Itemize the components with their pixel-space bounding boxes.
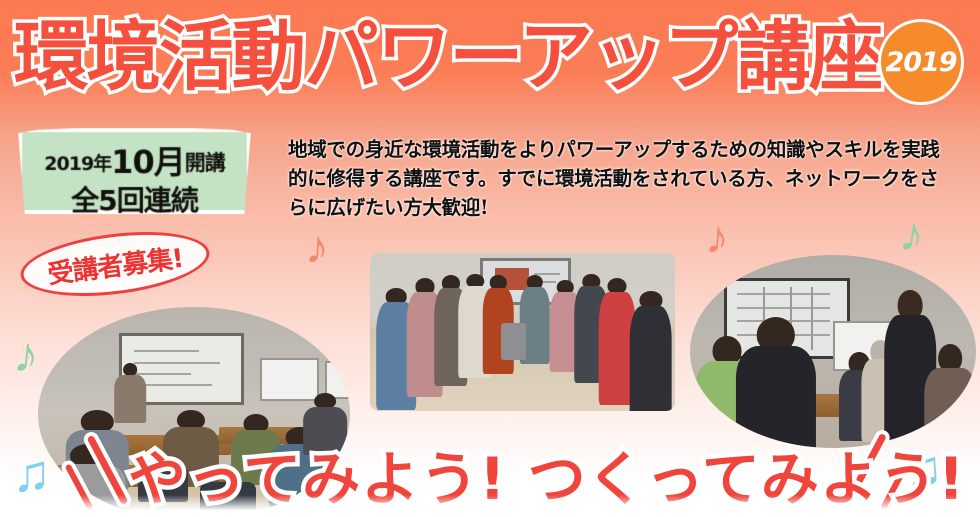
schedule-banner: 2019年10月開講 全5回連続 — [18, 128, 252, 214]
music-note-icon: ♪ — [304, 223, 330, 270]
music-note-icon: ♫ — [12, 448, 51, 500]
participant-figure — [629, 291, 672, 411]
music-note-icon: ♪ — [11, 329, 41, 381]
schedule-start: 開講 — [185, 151, 225, 175]
recruit-badge-label: 受講者募集! — [45, 237, 184, 290]
schedule-month: 10月 — [111, 143, 185, 181]
title-container: 環境活動パワーアップ講座 — [14, 6, 874, 108]
year-badge: 2019 — [878, 19, 964, 105]
schedule-sessions: 全5回連続 — [22, 187, 248, 215]
poster-canvas: 環境活動パワーアップ講座 2019 2019年10月開講 全5回連続 地域での身… — [0, 0, 980, 517]
photo-group-workshop — [370, 253, 675, 411]
slogan-container: やってみよう! つくってみよう! — [128, 432, 868, 516]
description-text: 地域での身近な環境活動をよりパワーアップするための知識やスキルを実践的に修得する… — [288, 136, 956, 223]
recruit-badge: 受講者募集! — [17, 223, 213, 306]
music-note-icon: ♪ — [897, 211, 927, 262]
attendee-figure — [736, 317, 816, 448]
photo-speaker-scene — [690, 255, 976, 448]
schedule-year: 2019年 — [44, 153, 111, 175]
schedule-banner-line1: 2019年10月開講 — [22, 146, 247, 178]
photo-speaker — [690, 255, 976, 448]
music-note-icon: ♪ — [704, 213, 730, 260]
slogan-text: やってみよう! つくってみよう! — [128, 432, 965, 516]
photo-group-workshop-scene — [370, 253, 675, 411]
year-badge-label: 2019 — [885, 47, 956, 78]
page-title: 環境活動パワーアップ講座 — [14, 19, 881, 95]
